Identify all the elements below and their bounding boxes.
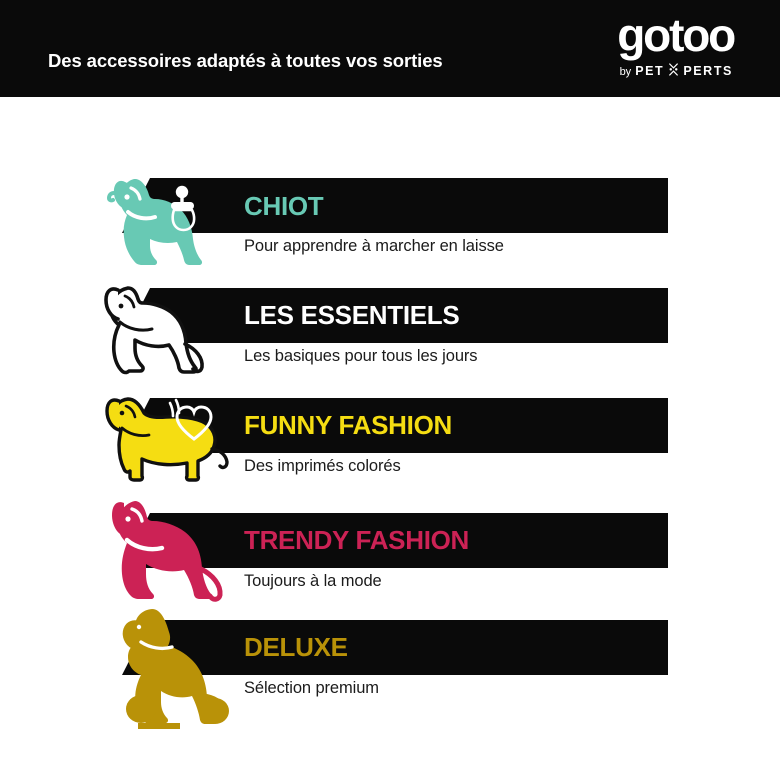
category-subtitle: Des imprimés colorés xyxy=(244,457,401,476)
logo-brand-left: PET xyxy=(635,64,664,78)
poodle-sitting-icon xyxy=(108,605,238,730)
brand-logo: gotoo by PET PERTS xyxy=(564,18,734,80)
logo-tagline: by PET PERTS xyxy=(620,62,733,78)
logo-paw-x-icon xyxy=(668,63,679,76)
pacifier-icon xyxy=(163,182,207,234)
heart-icon xyxy=(164,395,222,447)
category-title: TRENDY FASHION xyxy=(244,525,469,556)
category-subtitle: Les basiques pour tous les jours xyxy=(244,347,477,366)
category-title: DELUXE xyxy=(244,632,348,663)
category-title: CHIOT xyxy=(244,191,323,222)
dog-sitting-tall-icon xyxy=(103,495,225,603)
category-subtitle: Pour apprendre à marcher en laisse xyxy=(244,237,504,256)
page-title: Des accessoires adaptés à toutes vos sor… xyxy=(48,50,443,72)
category-row-les-essentiels[interactable]: LES ESSENTIELS Les basiques pour tous le… xyxy=(0,275,780,385)
category-row-deluxe[interactable]: DELUXE Sélection premium xyxy=(0,605,780,735)
logo-by-text: by xyxy=(620,66,632,78)
logo-wordmark: gotoo xyxy=(617,12,734,58)
category-row-trendy-fashion[interactable]: TRENDY FASHION Toujours à la mode xyxy=(0,495,780,610)
category-title: FUNNY FASHION xyxy=(244,410,452,441)
category-subtitle: Sélection premium xyxy=(244,679,379,698)
page-header: Des accessoires adaptés à toutes vos sor… xyxy=(0,0,780,97)
logo-brand-right: PERTS xyxy=(683,64,733,78)
category-row-chiot[interactable]: CHIOT Pour apprendre à marcher en laisse xyxy=(0,165,780,275)
category-row-funny-fashion[interactable]: FUNNY FASHION Des imprimés colorés xyxy=(0,385,780,495)
category-title: LES ESSENTIELS xyxy=(244,300,459,331)
dog-sitting-outline-icon xyxy=(98,278,220,378)
category-subtitle: Toujours à la mode xyxy=(244,572,382,591)
